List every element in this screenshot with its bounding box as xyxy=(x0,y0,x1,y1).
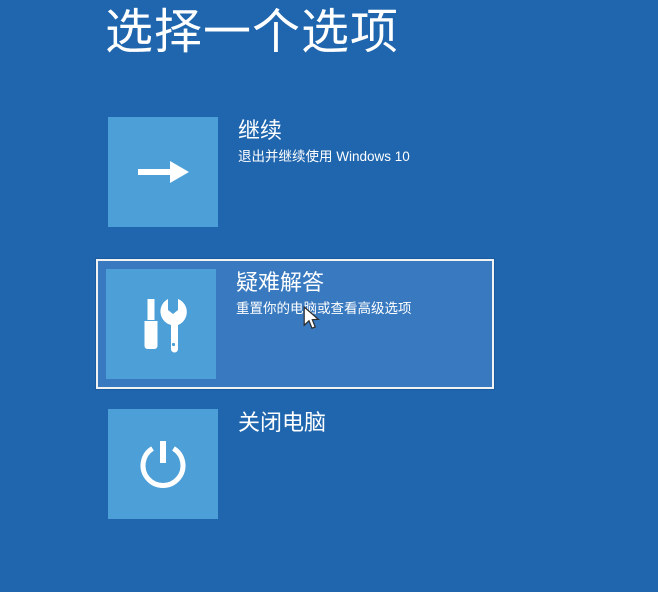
option-continue[interactable]: 继续 退出并继续使用 Windows 10 xyxy=(96,113,496,243)
option-troubleshoot-title: 疑难解答 xyxy=(236,269,412,297)
option-turn-off-pc-tile xyxy=(108,409,218,519)
option-continue-title: 继续 xyxy=(238,117,410,145)
option-turn-off-pc-text: 关闭电脑 xyxy=(238,409,326,437)
option-troubleshoot[interactable]: 疑难解答 重置你的电脑或查看高级选项 xyxy=(96,259,494,389)
option-troubleshoot-text: 疑难解答 重置你的电脑或查看高级选项 xyxy=(236,269,412,318)
troubleshoot-tools-icon xyxy=(130,293,192,355)
options-list: 继续 退出并继续使用 Windows 10 xyxy=(96,113,496,551)
recovery-options-screen: 选择一个选项 继续 退出并继续使用 Windows 10 xyxy=(0,0,658,592)
option-turn-off-pc-title: 关闭电脑 xyxy=(238,409,326,437)
arrow-right-icon xyxy=(132,149,194,195)
power-icon xyxy=(133,434,193,494)
page-title: 选择一个选项 xyxy=(105,2,399,64)
option-troubleshoot-subtitle: 重置你的电脑或查看高级选项 xyxy=(236,299,412,318)
option-continue-tile xyxy=(108,117,218,227)
option-continue-subtitle: 退出并继续使用 Windows 10 xyxy=(238,147,410,166)
option-troubleshoot-tile xyxy=(106,269,216,379)
option-continue-text: 继续 退出并继续使用 Windows 10 xyxy=(238,117,410,166)
option-turn-off-pc[interactable]: 关闭电脑 xyxy=(96,405,496,535)
